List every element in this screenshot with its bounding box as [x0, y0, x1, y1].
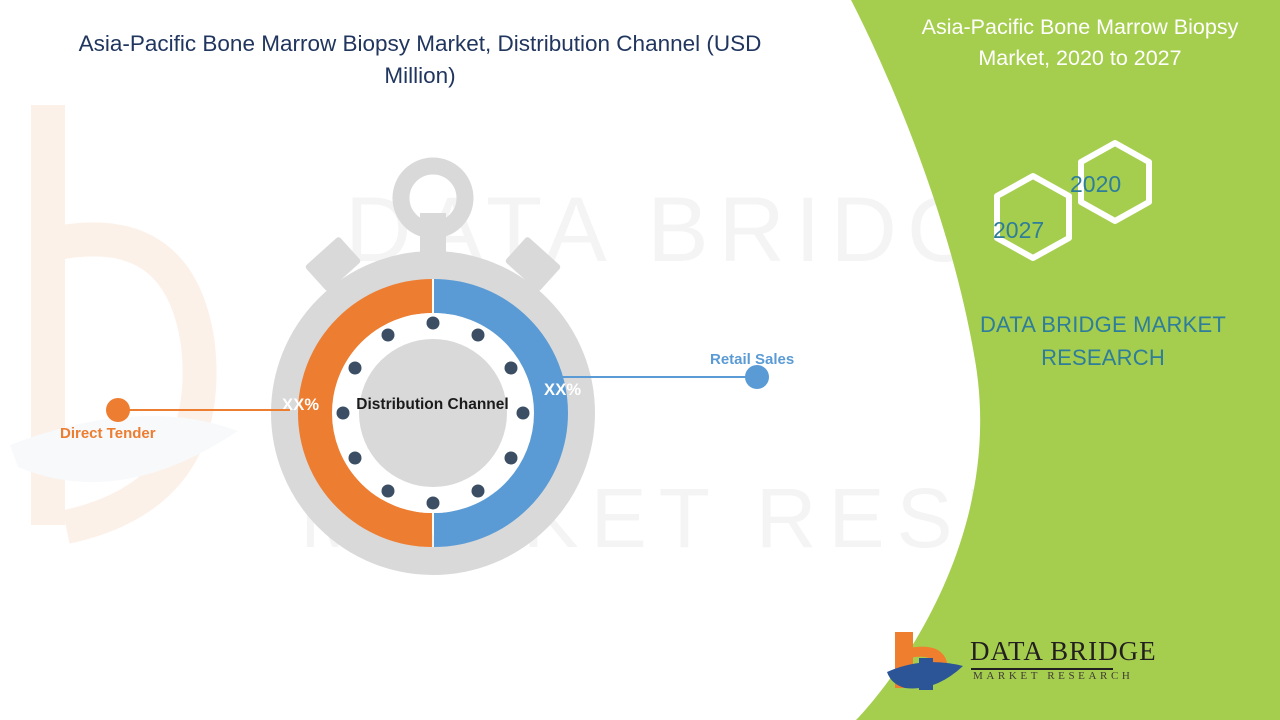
segment-value-retail-sales: XX%	[544, 381, 581, 400]
panel-brand-text: DATA BRIDGE MARKET RESEARCH	[948, 308, 1258, 374]
callout-line-retail-sales	[537, 376, 759, 378]
hexagon-group: 2020 2027	[975, 140, 1185, 285]
page-title: Asia-Pacific Bone Marrow Biopsy Market, …	[75, 28, 765, 92]
hexagon-2020-label: 2020	[1070, 171, 1121, 198]
callout-line-direct-tender	[120, 409, 290, 411]
panel-title: Asia-Pacific Bone Marrow Biopsy Market, …	[900, 12, 1260, 74]
callout-dot-direct-tender	[106, 398, 130, 422]
callout-label-retail-sales: Retail Sales	[710, 351, 794, 368]
hexagon-2027-label: 2027	[993, 217, 1044, 244]
dbmr-logo: DATA BRIDGE MARKET RESEARCH	[885, 628, 1115, 700]
segment-value-direct-tender: XX%	[282, 396, 319, 415]
dbmr-logo-tagline: MARKET RESEARCH	[973, 670, 1133, 682]
hexagons-icon	[975, 140, 1185, 285]
callout-label-direct-tender: Direct Tender	[60, 425, 156, 442]
donut-center-label: Distribution Channel	[355, 394, 510, 416]
callout-dot-retail-sales	[745, 365, 769, 389]
stopwatch-donut-chart	[253, 155, 613, 585]
stopwatch-graphic-icon	[253, 155, 613, 585]
dbmr-logo-name: DATA BRIDGE	[970, 636, 1157, 667]
dbmr-b-mark-icon	[885, 628, 965, 694]
infographic-canvas: DATA BRIDGE MARKET RESEARCH Asia-Pacific…	[0, 0, 1280, 720]
